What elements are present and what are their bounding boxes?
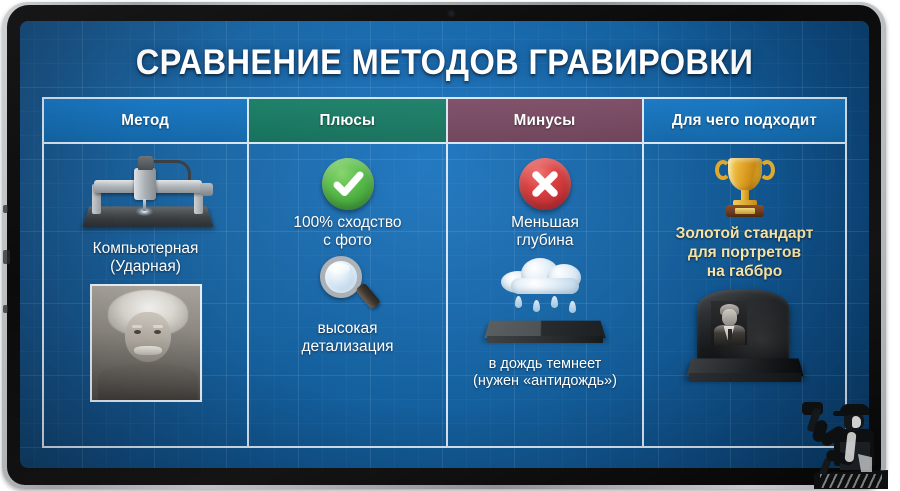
cell-cons-text-1: Меньшая глубина xyxy=(511,214,579,250)
cell-cons: Меньшая глубина xyxy=(448,144,644,446)
cell-method-label-line1: Компьютерная xyxy=(93,240,199,258)
volume-up-button[interactable] xyxy=(3,205,8,213)
comparison-table: Метод Плюсы Минусы Для чего подходит xyxy=(42,97,847,448)
cell-pros-text-1: 100% сходство с фото xyxy=(293,214,401,250)
power-button[interactable] xyxy=(3,250,10,264)
red-cross-circle-icon xyxy=(519,158,571,210)
portrait-photo-einstein xyxy=(90,284,202,402)
table-header-suited-for: Для чего подходит xyxy=(644,99,845,142)
cell-pros-text-2-line1: высокая xyxy=(301,320,393,338)
stonemason-with-hammer-and-chisel-icon xyxy=(800,398,896,490)
cell-pros-text-1-line2: с фото xyxy=(293,232,401,250)
cell-method-label-line2: (Ударная) xyxy=(93,258,199,276)
rain-cloud-over-granite-slab-icon xyxy=(481,256,609,352)
volume-down-button[interactable] xyxy=(3,305,8,313)
cell-cons-text-1-line2: глубина xyxy=(511,232,579,250)
table-header-pros: Плюсы xyxy=(249,99,448,142)
cell-pros-text-1-line1: 100% сходство xyxy=(293,214,401,232)
table-header-method: Метод xyxy=(44,99,249,142)
tablet-screen: СРАВНЕНИЕ МЕТОДОВ ГРАВИРОВКИ Метод Плюсы… xyxy=(20,21,869,468)
cell-cons-text-1-line1: Меньшая xyxy=(511,214,579,232)
cell-pros-text-2-line2: детализация xyxy=(301,338,393,356)
table-header-method-label: Метод xyxy=(122,112,170,130)
cell-cons-text-2: в дождь темнеет (нужен «антидождь») xyxy=(473,356,617,390)
table-header-suited-for-label: Для чего подходит xyxy=(672,112,817,130)
cell-cons-text-2-line1: в дождь темнеет xyxy=(473,356,617,373)
cell-method: Компьютерная (Ударная) xyxy=(44,144,249,446)
page-title: СРАВНЕНИЕ МЕТОДОВ ГРАВИРОВКИ xyxy=(50,43,840,83)
magnifying-glass-icon xyxy=(316,254,380,316)
camera-dot-icon xyxy=(448,10,455,17)
gold-trophy-icon xyxy=(714,156,776,220)
table-header-cons-label: Минусы xyxy=(514,112,576,130)
cell-pros: 100% сходство с фото высокая детализация xyxy=(249,144,448,446)
table-row: Компьютерная (Ударная) xyxy=(44,144,845,446)
table-header-pros-label: Плюсы xyxy=(320,112,376,130)
cell-pros-text-2: высокая детализация xyxy=(301,320,393,356)
cell-suited-for-text-line3: на габбро xyxy=(676,262,814,281)
cell-suited-for-text-line1: Золотой стандарт xyxy=(676,224,814,243)
green-check-circle-icon xyxy=(322,158,374,210)
cell-cons-text-2-line2: (нужен «антидождь») xyxy=(473,373,617,390)
cell-method-label: Компьютерная (Ударная) xyxy=(93,240,199,276)
tablet-device: СРАВНЕНИЕ МЕТОДОВ ГРАВИРОВКИ Метод Плюсы… xyxy=(0,0,900,491)
table-header-cons: Минусы xyxy=(448,99,644,142)
cnc-engraving-machine-icon xyxy=(72,154,220,236)
black-granite-headstone-with-portrait xyxy=(685,289,805,399)
table-header-row: Метод Плюсы Минусы Для чего подходит xyxy=(44,99,845,144)
cell-suited-for-text-line2: для портретов xyxy=(676,243,814,262)
cell-suited-for-text: Золотой стандарт для портретов на габбро xyxy=(676,224,814,281)
